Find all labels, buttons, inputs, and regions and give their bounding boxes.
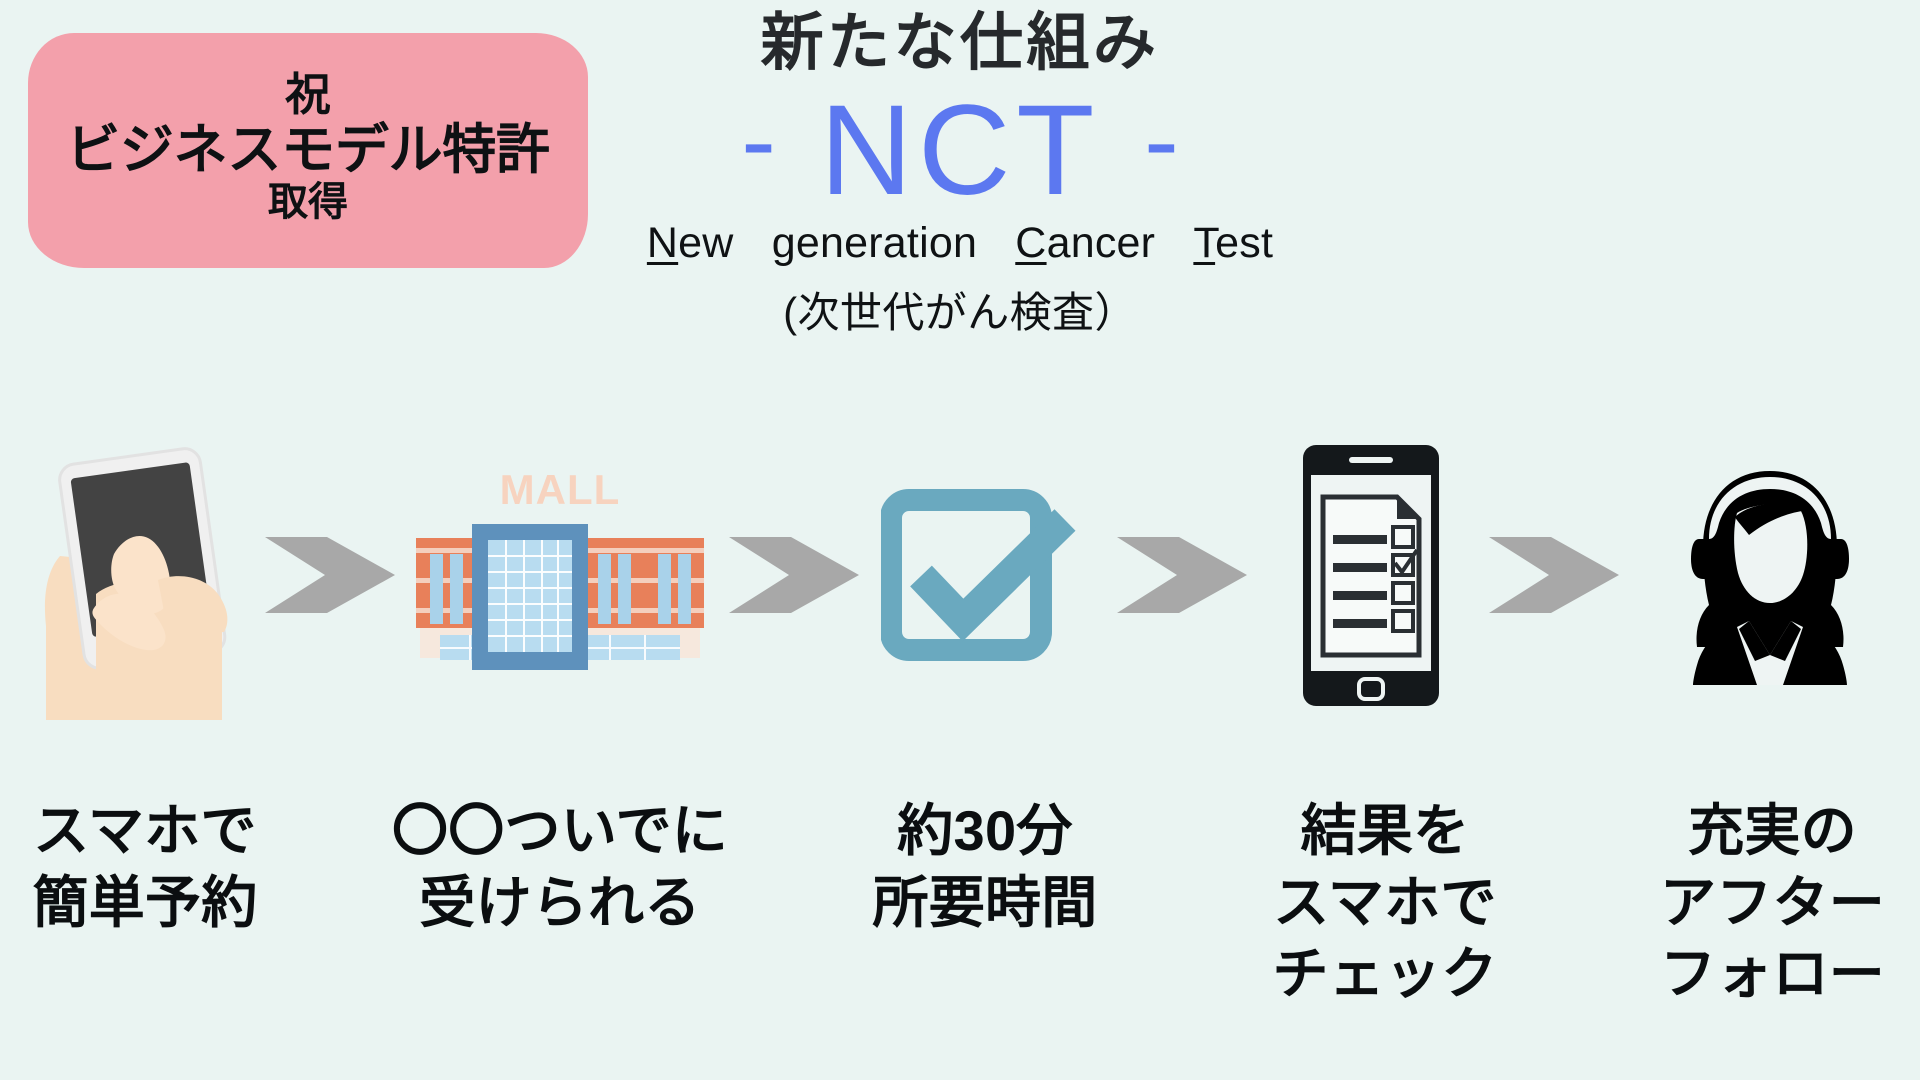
chevron-right-arrow-icon <box>729 531 859 619</box>
checked-checkbox-icon <box>881 480 1081 670</box>
acronym-expansion: New generation Cancer Test <box>560 219 1360 268</box>
expansion-word-new: New <box>647 219 734 267</box>
caption-step-1-line-1: スマホで <box>10 795 280 867</box>
dash-right: - <box>1144 89 1179 193</box>
caption-step-4-line-3: チェック <box>1245 938 1525 1010</box>
caption-step-5-line-1: 充実の <box>1630 795 1915 867</box>
title-block: 新たな仕組み - NCT - New generation Cancer Tes… <box>560 8 1360 340</box>
dash-left: - <box>741 89 776 193</box>
caption-step-4-line-2: スマホで <box>1245 867 1525 939</box>
expansion-word-generation: generation <box>772 219 977 267</box>
expansion-word-cancer: Cancer <box>1015 219 1155 267</box>
flow-arrow-3 <box>1114 430 1250 720</box>
expansion-initial-n: N <box>647 219 678 267</box>
expansion-rest-test: est <box>1215 219 1273 267</box>
caption-step-1: スマホで 簡単予約 <box>10 795 280 938</box>
caption-step-3: 約30分 所要時間 <box>850 795 1120 938</box>
patent-badge-line-1: 祝 <box>285 71 330 120</box>
expansion-rest-cancer: ancer <box>1047 219 1156 267</box>
page-headline: 新たな仕組み <box>560 8 1360 79</box>
chevron-right-arrow-icon <box>1489 531 1619 619</box>
caption-step-5: 充実の アフター フォロー <box>1630 795 1915 1010</box>
expansion-rest-new: ew <box>678 219 733 267</box>
chevron-right-arrow-icon <box>1117 531 1247 619</box>
patent-badge-line-3: 取得 <box>268 180 348 224</box>
patent-badge: 祝 ビジネスモデル特許 取得 <box>28 33 588 268</box>
flow-step-5 <box>1630 430 1910 720</box>
flow-step-1 <box>10 430 270 720</box>
japanese-translation: (次世代がん検査） <box>560 279 1360 340</box>
caption-step-4-line-1: 結果を <box>1245 795 1525 867</box>
caption-step-3-line-2: 所要時間 <box>850 867 1120 939</box>
flow-step-4 <box>1256 430 1486 720</box>
acronym-row: - NCT - <box>560 81 1360 207</box>
acronym-nct: NCT <box>820 87 1100 215</box>
caption-step-2-line-1: 〇〇ついでに <box>370 795 750 867</box>
flow-step-2: MALL <box>400 430 720 720</box>
chevron-right-arrow-icon <box>265 531 395 619</box>
flow-arrow-2 <box>726 430 862 720</box>
flow-step-3 <box>866 430 1096 720</box>
caption-step-2: 〇〇ついでに 受けられる <box>370 795 750 938</box>
caption-step-5-line-3: フォロー <box>1630 938 1915 1010</box>
expansion-initial-t: T <box>1193 219 1215 267</box>
flow-arrow-1 <box>262 430 398 720</box>
caption-step-3-line-1: 約30分 <box>850 795 1120 867</box>
shopping-mall-building-icon: MALL <box>410 470 710 680</box>
expansion-word-test: Test <box>1193 219 1273 267</box>
headset-operator-icon <box>1675 465 1865 685</box>
patent-badge-line-2: ビジネスモデル特許 <box>66 120 550 180</box>
caption-step-2-line-2: 受けられる <box>370 867 750 939</box>
caption-step-4: 結果を スマホで チェック <box>1245 795 1525 1010</box>
expansion-initial-c: C <box>1015 219 1046 267</box>
smartphone-checklist-icon <box>1301 443 1441 708</box>
hand-holding-smartphone-icon <box>18 430 263 720</box>
mall-sign-text: MALL <box>500 470 621 513</box>
process-flow-row: MALL <box>0 430 1920 720</box>
caption-step-1-line-2: 簡単予約 <box>10 867 280 939</box>
caption-step-5-line-2: アフター <box>1630 867 1915 939</box>
flow-arrow-4 <box>1486 430 1622 720</box>
